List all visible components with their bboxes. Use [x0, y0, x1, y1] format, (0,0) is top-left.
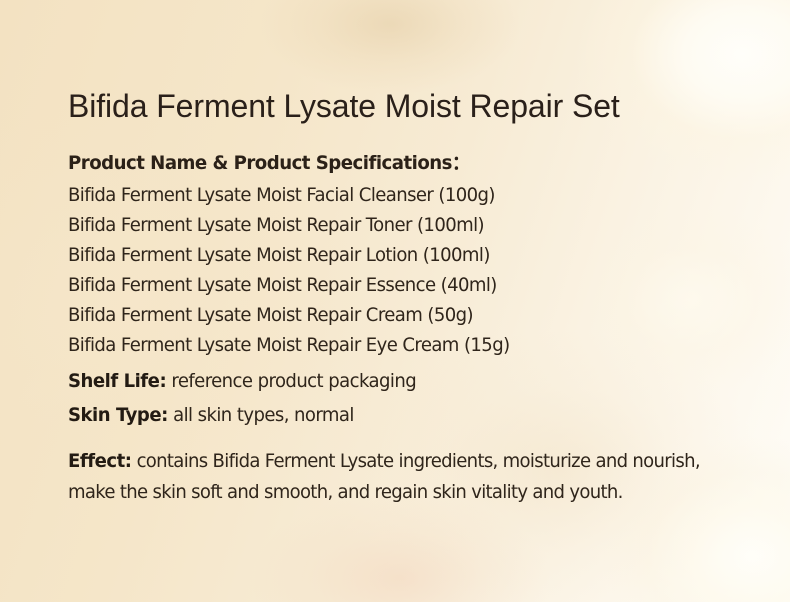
page-title: Bifida Ferment Lysate Moist Repair Set: [68, 88, 620, 125]
list-item: Bifida Ferment Lysate Moist Repair Cream…: [68, 300, 510, 330]
list-item: Bifida Ferment Lysate Moist Repair Lotio…: [68, 240, 510, 270]
product-list: Bifida Ferment Lysate Moist Facial Clean…: [68, 180, 533, 360]
list-item: Bifida Ferment Lysate Moist Facial Clean…: [68, 180, 510, 210]
skin-type-label: Skin Type:: [68, 404, 168, 426]
shelf-life-row: Shelf Life: reference product packaging: [68, 370, 416, 392]
effect-paragraph: Effect: contains Bifida Ferment Lysate i…: [68, 446, 744, 508]
skin-type-row: Skin Type: all skin types, normal: [68, 404, 354, 426]
effect-label: Effect:: [68, 450, 132, 472]
list-item: Bifida Ferment Lysate Moist Repair Toner…: [68, 210, 510, 240]
skin-type-value: all skin types, normal: [173, 404, 354, 426]
product-info-card: Bifida Ferment Lysate Moist Repair Set P…: [0, 0, 790, 602]
specifications-heading: Product Name & Product Specifications：: [68, 148, 470, 175]
list-item: Bifida Ferment Lysate Moist Repair Eye C…: [68, 330, 510, 360]
shelf-life-label: Shelf Life:: [68, 370, 166, 392]
effect-value: contains Bifida Ferment Lysate ingredien…: [68, 450, 700, 503]
shelf-life-value: reference product packaging: [171, 370, 416, 392]
list-item: Bifida Ferment Lysate Moist Repair Essen…: [68, 270, 510, 300]
product-info-content: Bifida Ferment Lysate Moist Repair Set P…: [0, 0, 790, 602]
